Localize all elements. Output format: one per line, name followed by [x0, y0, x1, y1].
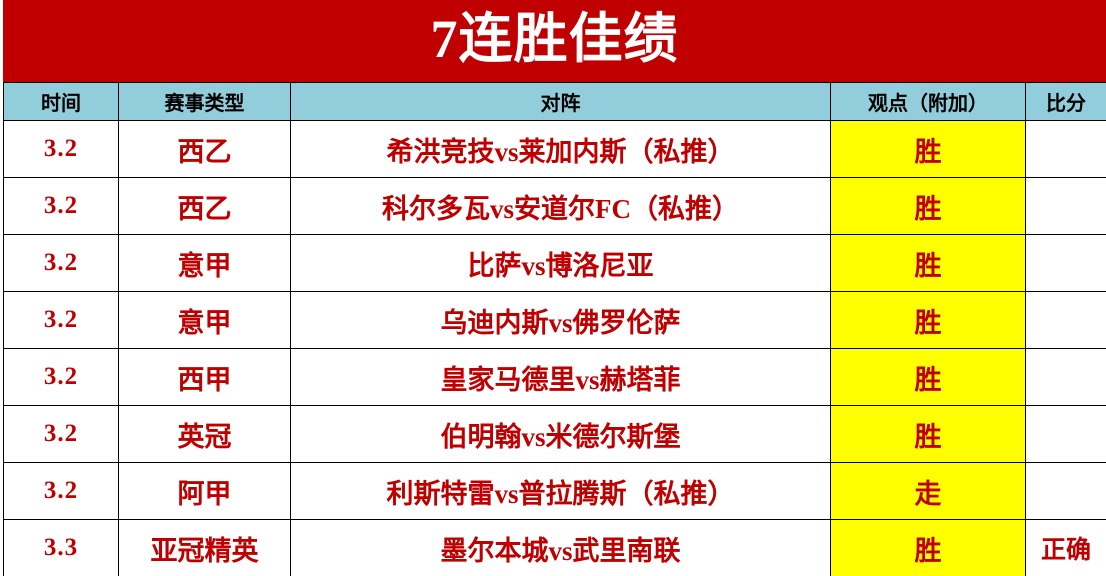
cell-time: 3.2 [4, 349, 119, 406]
cell-league: 意甲 [119, 292, 291, 349]
cell-view: 胜 [831, 178, 1026, 235]
cell-match: 皇家马德里vs赫塔菲 [291, 349, 831, 406]
table-row: 3.2阿甲利斯特雷vs普拉腾斯（私推）走 [4, 463, 1106, 520]
table-header-row: 时间 赛事类型 对阵 观点（附加） 比分 [4, 83, 1106, 121]
cell-score [1026, 463, 1106, 520]
column-header-league: 赛事类型 [119, 83, 291, 121]
column-header-match: 对阵 [291, 83, 831, 121]
cell-league: 西乙 [119, 121, 291, 178]
table-row: 3.2西乙希洪竞技vs莱加内斯（私推）胜 [4, 121, 1106, 178]
column-header-view: 观点（附加） [831, 83, 1026, 121]
cell-view: 胜 [831, 406, 1026, 463]
title-banner: 7连胜佳绩 [3, 0, 1106, 82]
table-row: 3.2西甲皇家马德里vs赫塔菲胜 [4, 349, 1106, 406]
cell-view: 胜 [831, 235, 1026, 292]
cell-view: 胜 [831, 121, 1026, 178]
cell-league: 意甲 [119, 235, 291, 292]
cell-score [1026, 121, 1106, 178]
cell-score [1026, 349, 1106, 406]
cell-time: 3.2 [4, 292, 119, 349]
cell-match: 希洪竞技vs莱加内斯（私推） [291, 121, 831, 178]
table-row: 3.2意甲比萨vs博洛尼亚胜 [4, 235, 1106, 292]
cell-view: 走 [831, 463, 1026, 520]
cell-view: 胜 [831, 349, 1026, 406]
cell-view: 胜 [831, 520, 1026, 576]
results-table: 时间 赛事类型 对阵 观点（附加） 比分 3.2西乙希洪竞技vs莱加内斯（私推）… [3, 82, 1106, 576]
cell-score [1026, 178, 1106, 235]
cell-match: 伯明翰vs米德尔斯堡 [291, 406, 831, 463]
cell-time: 3.2 [4, 178, 119, 235]
column-header-time: 时间 [4, 83, 119, 121]
cell-score: 正确 [1026, 520, 1106, 576]
cell-score [1026, 235, 1106, 292]
cell-league: 西甲 [119, 349, 291, 406]
cell-time: 3.3 [4, 520, 119, 576]
cell-time: 3.2 [4, 121, 119, 178]
table-row: 3.2意甲乌迪内斯vs佛罗伦萨胜 [4, 292, 1106, 349]
cell-match: 乌迪内斯vs佛罗伦萨 [291, 292, 831, 349]
column-header-score: 比分 [1026, 83, 1106, 121]
cell-score [1026, 292, 1106, 349]
table-row: 3.2英冠伯明翰vs米德尔斯堡胜 [4, 406, 1106, 463]
cell-match: 利斯特雷vs普拉腾斯（私推） [291, 463, 831, 520]
cell-league: 西乙 [119, 178, 291, 235]
table-body: 3.2西乙希洪竞技vs莱加内斯（私推）胜3.2西乙科尔多瓦vs安道尔FC（私推）… [4, 121, 1106, 576]
cell-time: 3.2 [4, 463, 119, 520]
cell-match: 科尔多瓦vs安道尔FC（私推） [291, 178, 831, 235]
cell-time: 3.2 [4, 235, 119, 292]
cell-match: 墨尔本城vs武里南联 [291, 520, 831, 576]
cell-league: 亚冠精英 [119, 520, 291, 576]
table-header: 时间 赛事类型 对阵 观点（附加） 比分 [4, 83, 1106, 121]
cell-view: 胜 [831, 292, 1026, 349]
cell-match: 比萨vs博洛尼亚 [291, 235, 831, 292]
cell-time: 3.2 [4, 406, 119, 463]
cell-score [1026, 406, 1106, 463]
cell-league: 阿甲 [119, 463, 291, 520]
table-row: 3.3亚冠精英墨尔本城vs武里南联胜正确 [4, 520, 1106, 576]
cell-league: 英冠 [119, 406, 291, 463]
table-row: 3.2西乙科尔多瓦vs安道尔FC（私推）胜 [4, 178, 1106, 235]
results-table-page: 7连胜佳绩 时间 赛事类型 对阵 观点（附加） 比分 3.2西乙希洪竞技vs莱加… [0, 0, 1106, 576]
page-title: 7连胜佳绩 [431, 12, 679, 70]
